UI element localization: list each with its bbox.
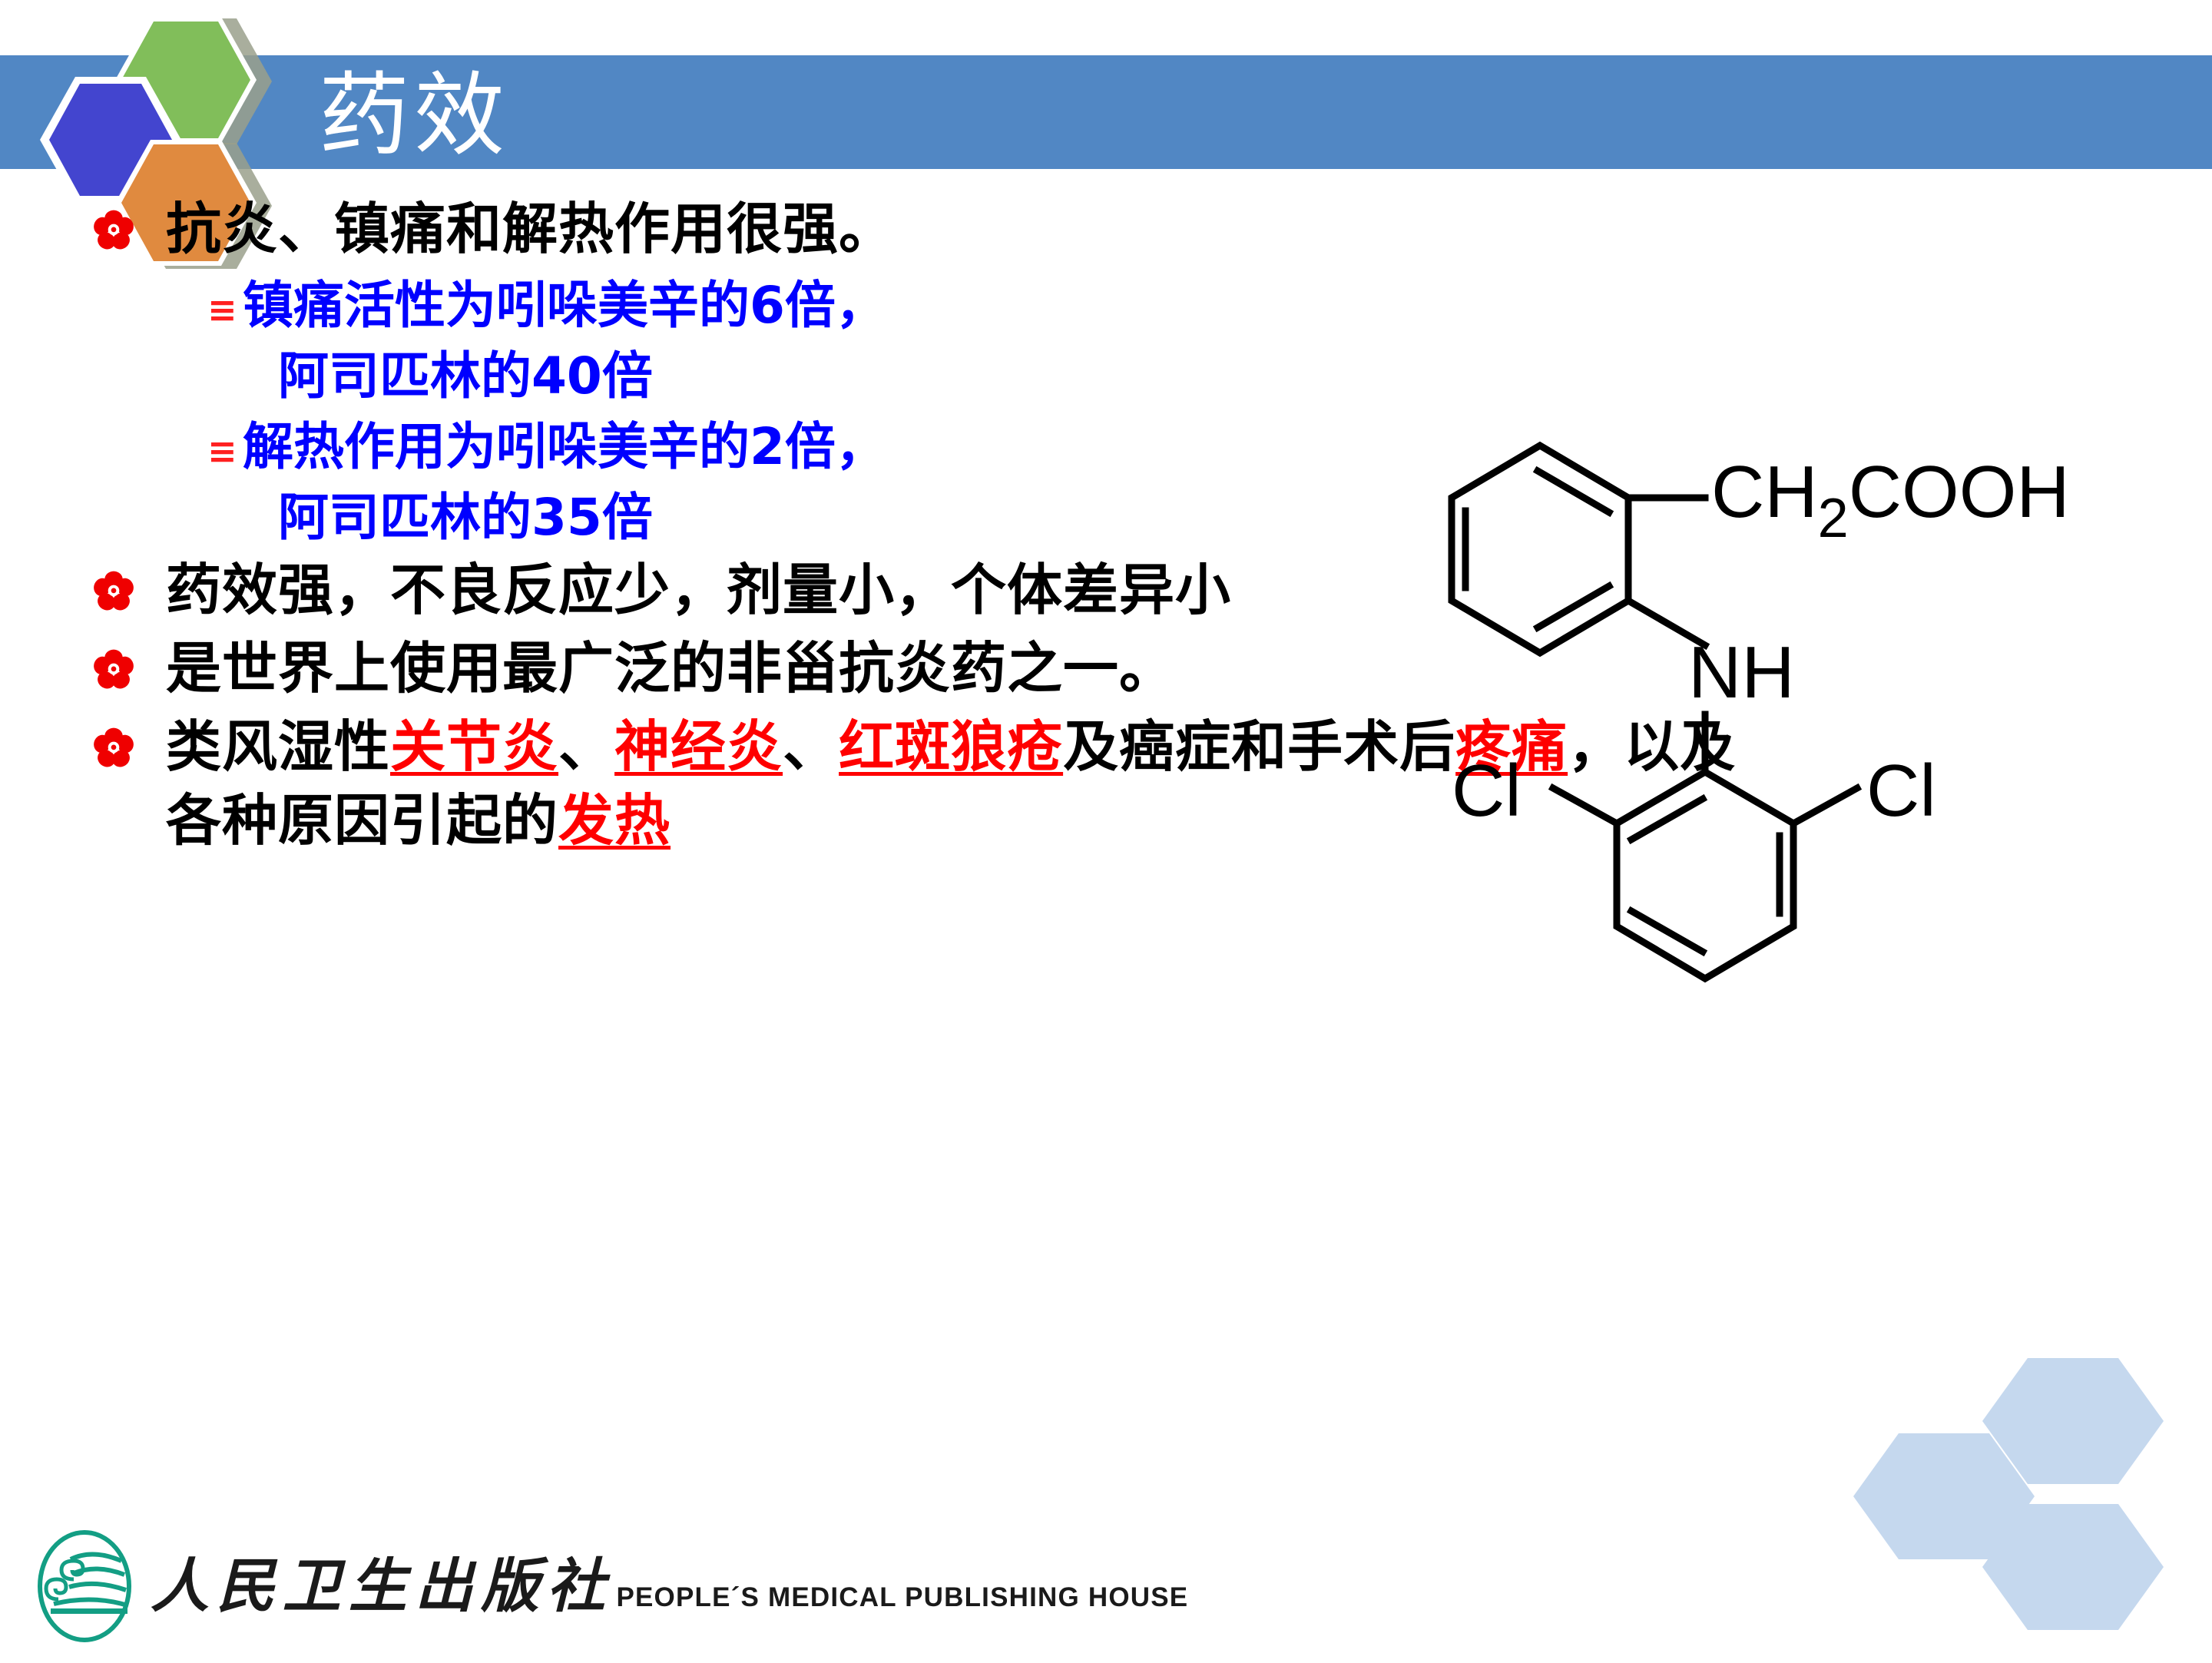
- indication-seg-fever: 发热: [558, 788, 671, 853]
- publisher-name-cn: 人民卫生出版社: [151, 1552, 613, 1620]
- diclofenac-structure: CH2COOH NH Cl Cl: [1375, 392, 2174, 999]
- flower-bullet-icon: [92, 192, 166, 256]
- indication-seg-0: 类风湿性: [166, 714, 390, 779]
- label-ch2cooh: CH2COOH: [1711, 451, 2070, 549]
- publisher-logo: 人民卫生出版社 PEOPLE´S MEDICAL PUBLISHING HOUS…: [31, 1521, 676, 1651]
- flower-bullet-icon: [92, 631, 166, 695]
- indication-seg-lupus: 红斑狼疮: [839, 714, 1063, 779]
- label-nh: NH: [1688, 631, 1795, 714]
- flower-bullet-icon: [92, 553, 166, 617]
- indication-seg-4: 、: [783, 714, 839, 779]
- indication-seg-arthritis: 关节炎: [390, 714, 558, 779]
- bullet-text: 抗炎、镇痛和解热作用很强。: [166, 192, 2058, 266]
- publisher-name-en: PEOPLE´S MEDICAL PUBLISHING HOUSE: [616, 1582, 1188, 1612]
- indication-line2-seg-0: 各种原因引起的: [166, 788, 558, 853]
- label-cl-left: Cl: [1452, 750, 1522, 832]
- sub-bullet-line-1: 镇痛活性为吲哚美辛的6倍，: [243, 276, 886, 335]
- indication-seg-neuritis: 神经炎: [614, 714, 783, 779]
- triple-bar-icon: ≡: [207, 412, 243, 469]
- sub-bullet-line-1: 解热作用为吲哚美辛的2倍，: [243, 417, 886, 476]
- publisher-mark-icon: [31, 1529, 138, 1644]
- bullet-item-antiinflammatory: 抗炎、镇痛和解热作用很强。: [92, 192, 2058, 266]
- decorative-hexagons: [1813, 1298, 2212, 1659]
- indication-seg-2: 、: [558, 714, 614, 779]
- triple-bar-icon: ≡: [207, 270, 243, 327]
- label-cl-right: Cl: [1866, 750, 1936, 832]
- page-title: 药效: [319, 61, 509, 169]
- flower-bullet-icon: [92, 710, 166, 774]
- sub-bullet-analgesic-potency: ≡ 镇痛活性为吲哚美辛的6倍， 阿司匹林的40倍: [207, 270, 2058, 412]
